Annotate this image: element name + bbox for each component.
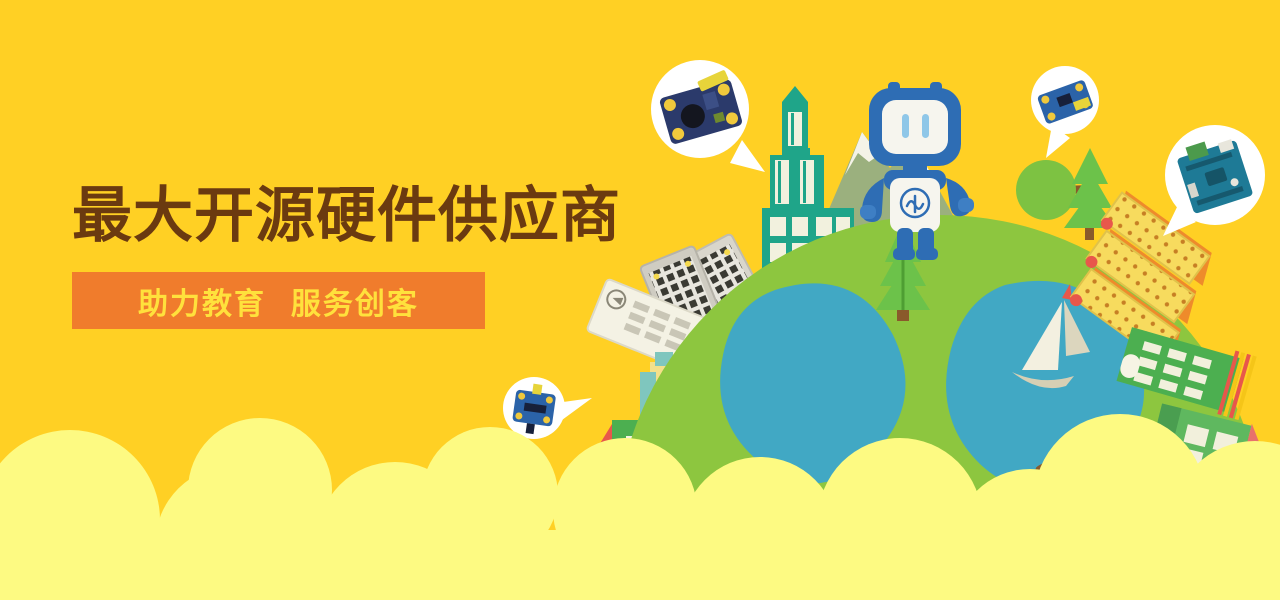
page-title: 最大开源硬件供应商 — [72, 185, 621, 248]
tagline-text: 助力教育 服务创客 — [138, 279, 419, 323]
hero-banner: 最大开源硬件供应商 助力教育 服务创客 — [0, 0, 1280, 600]
tagline-badge: 助力教育 服务创客 — [72, 272, 485, 329]
banner-text-block: 最大开源硬件供应商 助力教育 服务创客 — [72, 185, 621, 329]
